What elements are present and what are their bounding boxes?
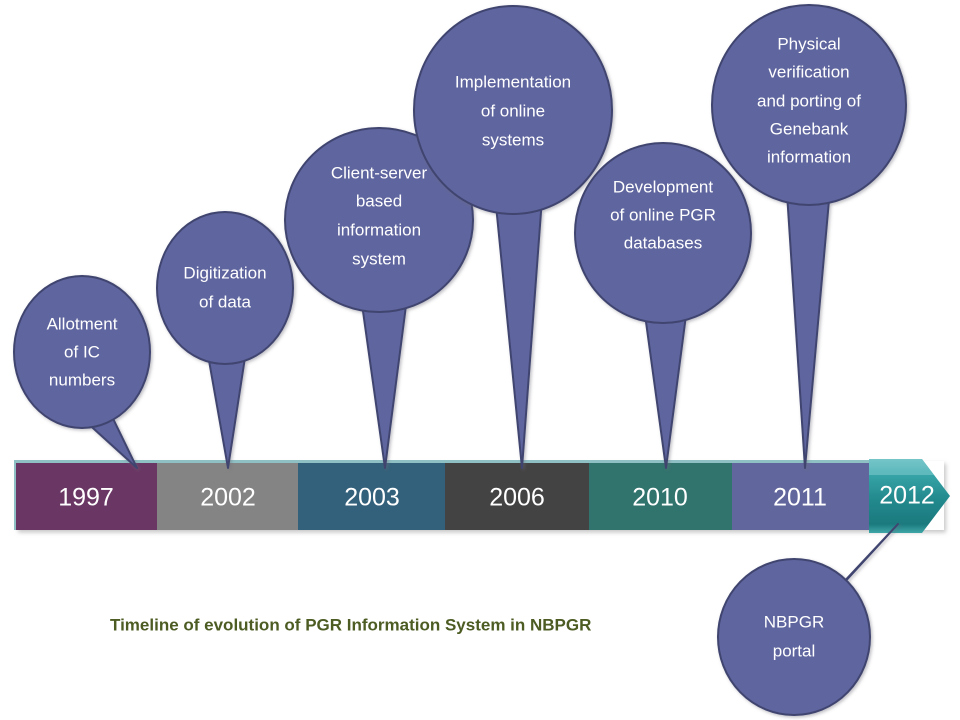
callout-line-2012-0: NBPGR xyxy=(764,612,824,631)
callout-tail-2011 xyxy=(786,178,831,468)
callout-allotment-of-ic-numbers[interactable]: Allotment of IC numbers xyxy=(14,276,150,468)
segment-year-label-2002: 2002 xyxy=(200,484,256,512)
callout-line-1997-0: Allotment xyxy=(47,314,118,333)
callout-line-2003-3: system xyxy=(352,249,406,268)
callout-line-1997-1: of IC xyxy=(64,342,100,361)
segment-year-label-2006: 2006 xyxy=(489,484,545,512)
callout-line-2011-1: verification xyxy=(768,62,849,81)
callout-line-2011-2: and porting of xyxy=(757,91,861,110)
callout-line-2011-3: Genebank xyxy=(770,119,849,138)
segment-year-label-2011: 2011 xyxy=(773,484,827,512)
timeline-segment-2006[interactable]: 2006 xyxy=(445,463,589,530)
timeline-segments: 1997 2002 2003 2006 2010 2011 xyxy=(16,459,950,533)
segment-year-label-2012: 2012 xyxy=(879,482,935,510)
callout-tail-2003 xyxy=(360,290,408,468)
timeline-diagram-canvas: 1997 2002 2003 2006 2010 2011 xyxy=(0,0,960,720)
callout-line-1997-2: numbers xyxy=(49,370,115,389)
callout-nbpgr-portal[interactable]: NBPGR portal xyxy=(718,524,898,715)
segment-year-label-2003: 2003 xyxy=(344,484,400,512)
callout-line-2003-1: based xyxy=(356,191,402,210)
callout-line-2003-2: information xyxy=(337,220,421,239)
timeline-segment-2002[interactable]: 2002 xyxy=(157,463,298,530)
timeline-segment-2010[interactable]: 2010 xyxy=(589,463,732,530)
callout-digitization-of-data[interactable]: Digitization of data xyxy=(157,212,293,468)
timeline-segment-2003[interactable]: 2003 xyxy=(298,463,445,530)
callout-line-2006-2: systems xyxy=(482,130,544,149)
timeline-bar-top-border xyxy=(16,460,869,463)
segment-year-label-2010: 2010 xyxy=(632,484,688,512)
callout-tail-2010 xyxy=(643,300,688,468)
timeline-segment-1997[interactable]: 1997 xyxy=(16,463,157,530)
callout-line-2010-0: Development xyxy=(613,177,713,196)
callout-line-2002-1: of data xyxy=(199,292,252,311)
callout-body-2002 xyxy=(157,212,293,364)
callout-line-2003-0: Client-server xyxy=(331,163,428,182)
callout-line-2006-1: of online xyxy=(481,101,545,120)
timeline-segment-2011[interactable]: 2011 xyxy=(732,463,869,530)
callout-line-2002-0: Digitization xyxy=(183,263,266,282)
callout-line-2010-2: databases xyxy=(624,233,702,252)
timeline-diagram: 1997 2002 2003 2006 2010 2011 xyxy=(0,0,960,720)
callout-development-of-online-pgr-databases[interactable]: Development of online PGR databases xyxy=(575,143,751,468)
segment-year-label-1997: 1997 xyxy=(58,484,114,512)
callout-line-2012-1: portal xyxy=(773,641,816,660)
diagram-caption: Timeline of evolution of PGR Information… xyxy=(110,615,591,634)
callout-line-2006-0: Implementation xyxy=(455,72,571,91)
callout-line-2010-1: of online PGR xyxy=(610,205,716,224)
callout-tail-2006 xyxy=(494,185,543,468)
callout-body-2012 xyxy=(718,559,870,715)
callout-line-2011-0: Physical xyxy=(777,34,840,53)
callout-line-2011-4: information xyxy=(767,147,851,166)
